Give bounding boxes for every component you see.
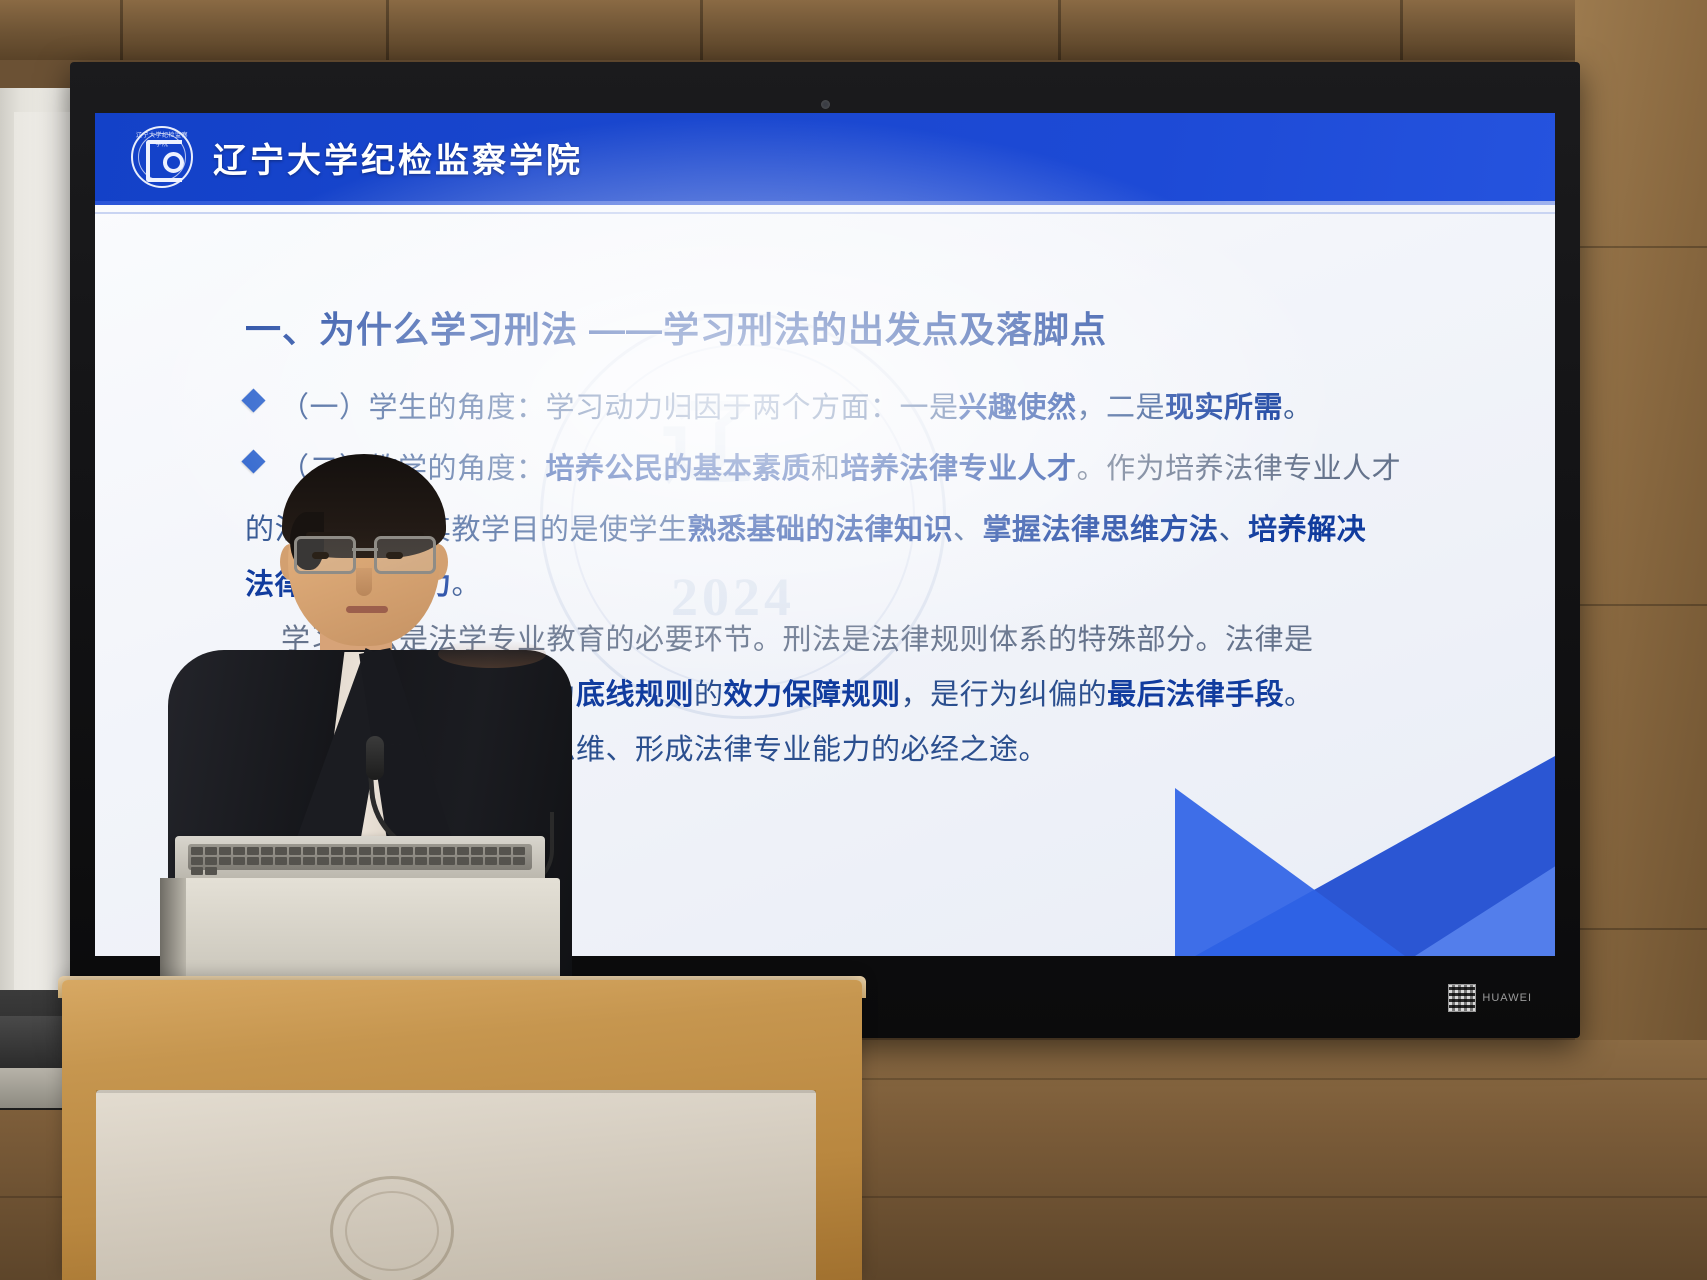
keypad-key[interactable] [387,847,399,855]
eyeglass-lens [374,536,436,574]
text-run: 效力保障规则 [724,679,901,711]
lecture-hall-photo: HUAWEI 辽 2024 辽宁大学纪检监察学院 辽宁大学纪检监察学院 一、为什… [0,0,1707,1280]
text-run: 。 [1283,392,1313,424]
keypad-key[interactable] [443,847,455,855]
lectern-front-panel [96,1090,816,1280]
slide-heading: 一、为什么学习刑法 ——学习刑法的出发点及落脚点 [245,301,1107,353]
keypad-key[interactable] [191,847,203,855]
text-run: 和 [811,453,841,485]
wall-seam [120,0,123,60]
text-run: 、 [953,514,983,546]
lectern-front-seam [96,1090,816,1093]
keypad-key[interactable] [401,847,413,855]
keypad-key[interactable] [275,847,287,855]
display-brand-label: HUAWEI [1482,992,1532,1004]
keypad-key[interactable] [247,857,259,865]
keypad-key[interactable] [457,847,469,855]
text-run: 底线规则 [576,679,694,711]
keypad-key[interactable] [499,857,511,865]
keypad-key[interactable] [443,857,455,865]
slide-header-bar: 辽宁大学纪检监察学院 辽宁大学纪检监察学院 [95,113,1555,201]
keypad-key[interactable] [191,857,203,865]
keypad-key[interactable] [247,847,259,855]
seal-glyph-icon [146,140,182,182]
text-run: 掌握法律思维方法 [983,514,1219,546]
camera-icon [821,100,830,109]
text-run: 熟悉基础的法律知识 [688,514,954,546]
keypad-key[interactable] [345,847,357,855]
wall-seam [700,0,703,60]
keypad-key[interactable] [219,847,231,855]
corner-triangle-decoration [1415,860,1555,956]
keypad-key[interactable] [499,847,511,855]
keypad-key[interactable] [513,847,525,855]
keypad-key[interactable] [261,847,273,855]
text-run: 培养公民的基本素质 [546,453,812,485]
corner-triangle-decoration [1175,788,1405,956]
keypad-key[interactable] [261,857,273,865]
header-underline [95,201,1555,205]
keypad-key[interactable] [303,857,315,865]
keypad-key[interactable] [373,847,385,855]
keypad-key[interactable] [513,857,525,865]
presenter-mouth [346,606,388,613]
keypad-key[interactable] [415,857,427,865]
text-run: 最后法律手段 [1107,679,1284,711]
text-run: （一）学生的角度：学习动力归因于两个方面：一是 [280,392,959,424]
text-run: 。 [1284,679,1314,711]
bullet-item: （一）学生的角度：学习动力归因于两个方面：一是兴趣使然，二是现实所需。 [245,381,1497,436]
display-brand-mark: HUAWEI [1448,984,1532,1012]
text-run: 现实所需 [1165,392,1283,424]
keypad-key[interactable] [205,867,217,875]
keypad-key[interactable] [317,847,329,855]
text-run: ，是行为纠偏的 [901,679,1108,711]
diamond-bullet-icon [241,388,265,412]
text-run: 、 [1219,514,1249,546]
keypad-key[interactable] [317,857,329,865]
wall-seam [386,0,389,60]
keypad-key[interactable] [331,847,343,855]
keypad-key[interactable] [289,857,301,865]
left-whiteboard-surface [14,112,78,1012]
wall-seam [1058,0,1061,60]
keypad-key[interactable] [429,857,441,865]
text-run: 培养解决 [1248,514,1366,546]
keypad-key[interactable] [387,857,399,865]
eyeglass-bridge [352,548,378,551]
keypad-key[interactable] [471,857,483,865]
bullet-text: （一）学生的角度：学习动力归因于两个方面：一是兴趣使然，二是现实所需。 [280,381,1313,436]
keypad-key[interactable] [415,847,427,855]
keypad-key[interactable] [457,857,469,865]
keypad-key[interactable] [485,857,497,865]
presenter-eye [386,552,403,559]
keypad-key[interactable] [345,857,357,865]
keypad-key[interactable] [205,847,217,855]
keypad-key[interactable] [275,857,287,865]
right-wall-panel [1575,0,1707,1070]
institution-name: 辽宁大学纪检监察学院 [213,133,583,182]
header-underline-thin [95,212,1555,214]
lectern-emblem [330,1176,454,1280]
keypad-key[interactable] [485,847,497,855]
university-seal-logo: 辽宁大学纪检监察学院 [131,126,193,188]
wall-seam [1575,246,1707,248]
text-run: 兴趣使然 [959,392,1077,424]
keypad-key[interactable] [373,857,385,865]
keypad-key[interactable] [205,857,217,865]
keypad-key[interactable] [359,857,371,865]
keypad-key[interactable] [429,847,441,855]
wall-seam [1575,928,1707,930]
keypad-key[interactable] [471,847,483,855]
keypad-key[interactable] [289,847,301,855]
keypad-key[interactable] [359,847,371,855]
wall-seam [1400,0,1403,60]
microphone-capsule-icon [366,736,384,780]
text-run: 的 [694,679,724,711]
keypad-key[interactable] [219,857,231,865]
keypad-key[interactable] [331,857,343,865]
wall-seam [1575,604,1707,606]
lectern-keypad[interactable] [188,844,532,870]
keypad-key[interactable] [233,847,245,855]
text-run: 。作为培养法律专业人才 [1077,453,1402,485]
text-run: 培养法律专业人才 [841,453,1077,485]
qr-code-icon [1448,984,1476,1012]
ceiling-wood-panel [0,0,1707,60]
keypad-key[interactable] [191,867,203,875]
keypad-key[interactable] [401,857,413,865]
keypad-key[interactable] [233,857,245,865]
text-run: ，二是 [1077,392,1166,424]
presenter-eye [312,552,329,559]
keypad-key[interactable] [303,847,315,855]
presenter-chin-shadow [438,640,546,668]
presenter-nose [356,568,372,596]
